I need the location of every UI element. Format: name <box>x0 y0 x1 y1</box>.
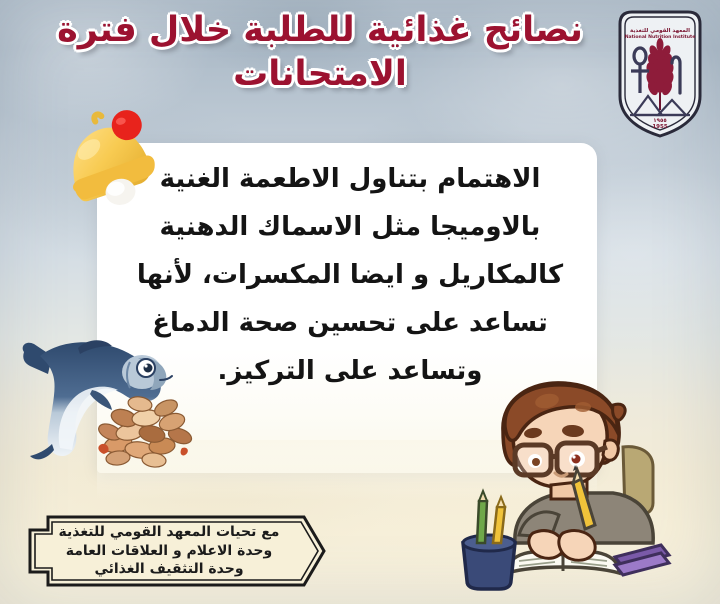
bell-icon <box>42 98 172 227</box>
message-text: الاهتمام بتناول الاطعمة الغنية بالاوميجا… <box>120 158 580 399</box>
footer-line-1: مع تحيات المعهد القومي للتغذية <box>32 523 306 542</box>
footer-line-2: وحدة الاعلام و العلاقات العامة <box>32 542 306 561</box>
title-line-1: نصائح غذائية للطلبة خلال فترة <box>40 8 600 52</box>
message-line-4: تساعد على تحسين صحة الدماغ <box>120 302 580 344</box>
message-line-2: بالاوميجا مثل الاسماك الدهنية <box>120 206 580 248</box>
title-line-2: الامتحانات <box>40 52 600 96</box>
student-studying-icon <box>455 375 720 595</box>
nutrition-poster: نصائح غذائية للطلبة خلال فترة الامتحانات <box>0 0 720 604</box>
message-line-3: كالمكاريل و ايضا المكسرات، لأنها <box>120 254 580 296</box>
nuts-icon <box>88 378 198 468</box>
message-line-1: الاهتمام بتناول الاطعمة الغنية <box>120 158 580 200</box>
institute-logo: المعهد القومي للتغذية National Nutrition… <box>614 8 706 140</box>
footer-line-3: وحدة التثقيف الغذائي <box>32 560 306 579</box>
footer-text: مع تحيات المعهد القومي للتغذية وحدة الاع… <box>32 523 306 579</box>
poster-title: نصائح غذائية للطلبة خلال فترة الامتحانات <box>40 8 600 96</box>
footer-credit: مع تحيات المعهد القومي للتغذية وحدة الاع… <box>18 514 328 588</box>
